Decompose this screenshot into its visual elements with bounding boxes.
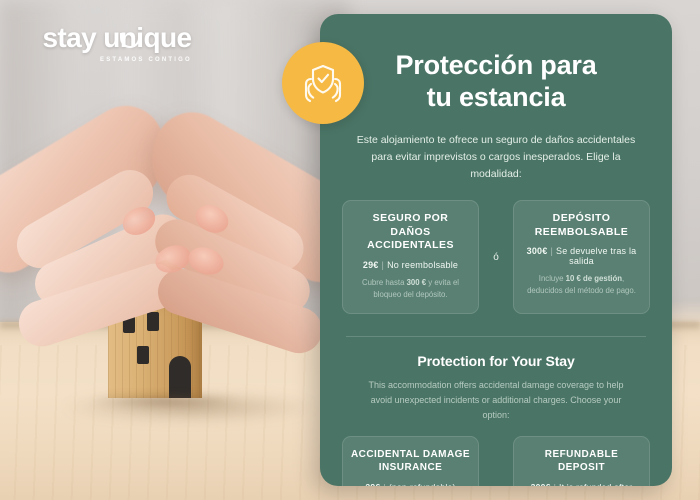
promo-banner: stay unique ESTAMOS CONTIGO Protección p… [0, 0, 700, 500]
brand-tagline: ESTAMOS CONTIGO [42, 57, 192, 63]
option-price-detail: No reembolsable [387, 260, 458, 270]
protection-panel: Protección para tu estancia Este alojami… [320, 14, 672, 486]
options-row-english: ACCIDENTAL DAMAGE INSURANCE 29€|(non-ref… [342, 436, 650, 486]
panel-title: Protección para tu estancia [342, 50, 650, 114]
house-window [147, 312, 159, 331]
option-title: SEGURO POR DAÑOS ACCIDENTALES [351, 212, 470, 254]
house-window [137, 346, 149, 364]
price-separator: | [550, 246, 553, 256]
shield-check-in-hands-icon [282, 42, 364, 124]
option-price-detail: Se devuelve tras la salida [556, 246, 636, 266]
option-price-line: 29€|No reembolsable [351, 260, 470, 270]
panel-subtitle-english: Protection for Your Stay [342, 353, 650, 369]
option-card-seguro-danos-accidentales[interactable]: SEGURO POR DAÑOS ACCIDENTALES 29€|No ree… [342, 200, 479, 315]
option-price: 29€ [363, 260, 379, 270]
option-price-detail: It is refunded after departure [559, 482, 632, 487]
option-price: 300€ [527, 246, 548, 256]
brand-logo: stay unique ESTAMOS CONTIGO [42, 24, 192, 63]
option-price-line: 300€|Se devuelve tras la salida [522, 246, 641, 266]
option-price-line: 29€|(non-refundable) [351, 482, 470, 487]
option-note-prefix: Incluye [539, 274, 566, 283]
option-card-deposito-reembolsable[interactable]: DEPÓSITO REEMBOLSABLE 300€|Se devuelve t… [513, 200, 650, 315]
option-price-detail: (non-refundable) [389, 482, 456, 487]
house-door [169, 356, 191, 398]
options-row-spanish: SEGURO POR DAÑOS ACCIDENTALES 29€|No ree… [342, 200, 650, 315]
shield-check-in-hands-glyph [297, 57, 349, 109]
price-separator: | [554, 482, 556, 487]
price-separator: | [383, 482, 385, 487]
option-title: DEPÓSITO REEMBOLSABLE [522, 212, 641, 240]
separator-english: or [479, 436, 513, 486]
option-title: ACCIDENTAL DAMAGE INSURANCE [351, 448, 470, 474]
option-note-bold: 300 € [407, 278, 427, 287]
option-note-prefix: Cubre hasta [362, 278, 407, 287]
panel-title-line-2: tu estancia [342, 82, 650, 114]
brand-name-part-2: unique [103, 22, 191, 53]
option-price: 29€ [365, 482, 380, 487]
panel-title-line-1: Protección para [342, 50, 650, 82]
option-card-refundable-deposit[interactable]: REFUNDABLE DEPOSIT 300€|It is refunded a… [513, 436, 650, 486]
brand-name: stay unique [42, 24, 191, 52]
section-divider [346, 336, 646, 337]
option-title: REFUNDABLE DEPOSIT [522, 448, 641, 474]
option-price-line: 300€|It is refunded after departure [522, 482, 641, 487]
option-note: Incluye 10 € de gestión, deducidos del m… [522, 273, 641, 297]
option-card-accidental-damage-insurance[interactable]: ACCIDENTAL DAMAGE INSURANCE 29€|(non-ref… [342, 436, 479, 486]
panel-description-english: This accommodation offers accidental dam… [342, 378, 650, 422]
price-separator: | [382, 260, 385, 270]
option-note: Cubre hasta 300 € y evita el bloqueo del… [351, 277, 470, 301]
house-shadow [90, 394, 240, 408]
option-price: 300€ [531, 482, 551, 487]
brand-name-part-1: stay [42, 22, 103, 53]
separator-spanish: ó [479, 200, 513, 315]
panel-description: Este alojamiento te ofrece un seguro de … [342, 132, 650, 184]
option-note-bold: 10 € de gestión [566, 274, 622, 283]
